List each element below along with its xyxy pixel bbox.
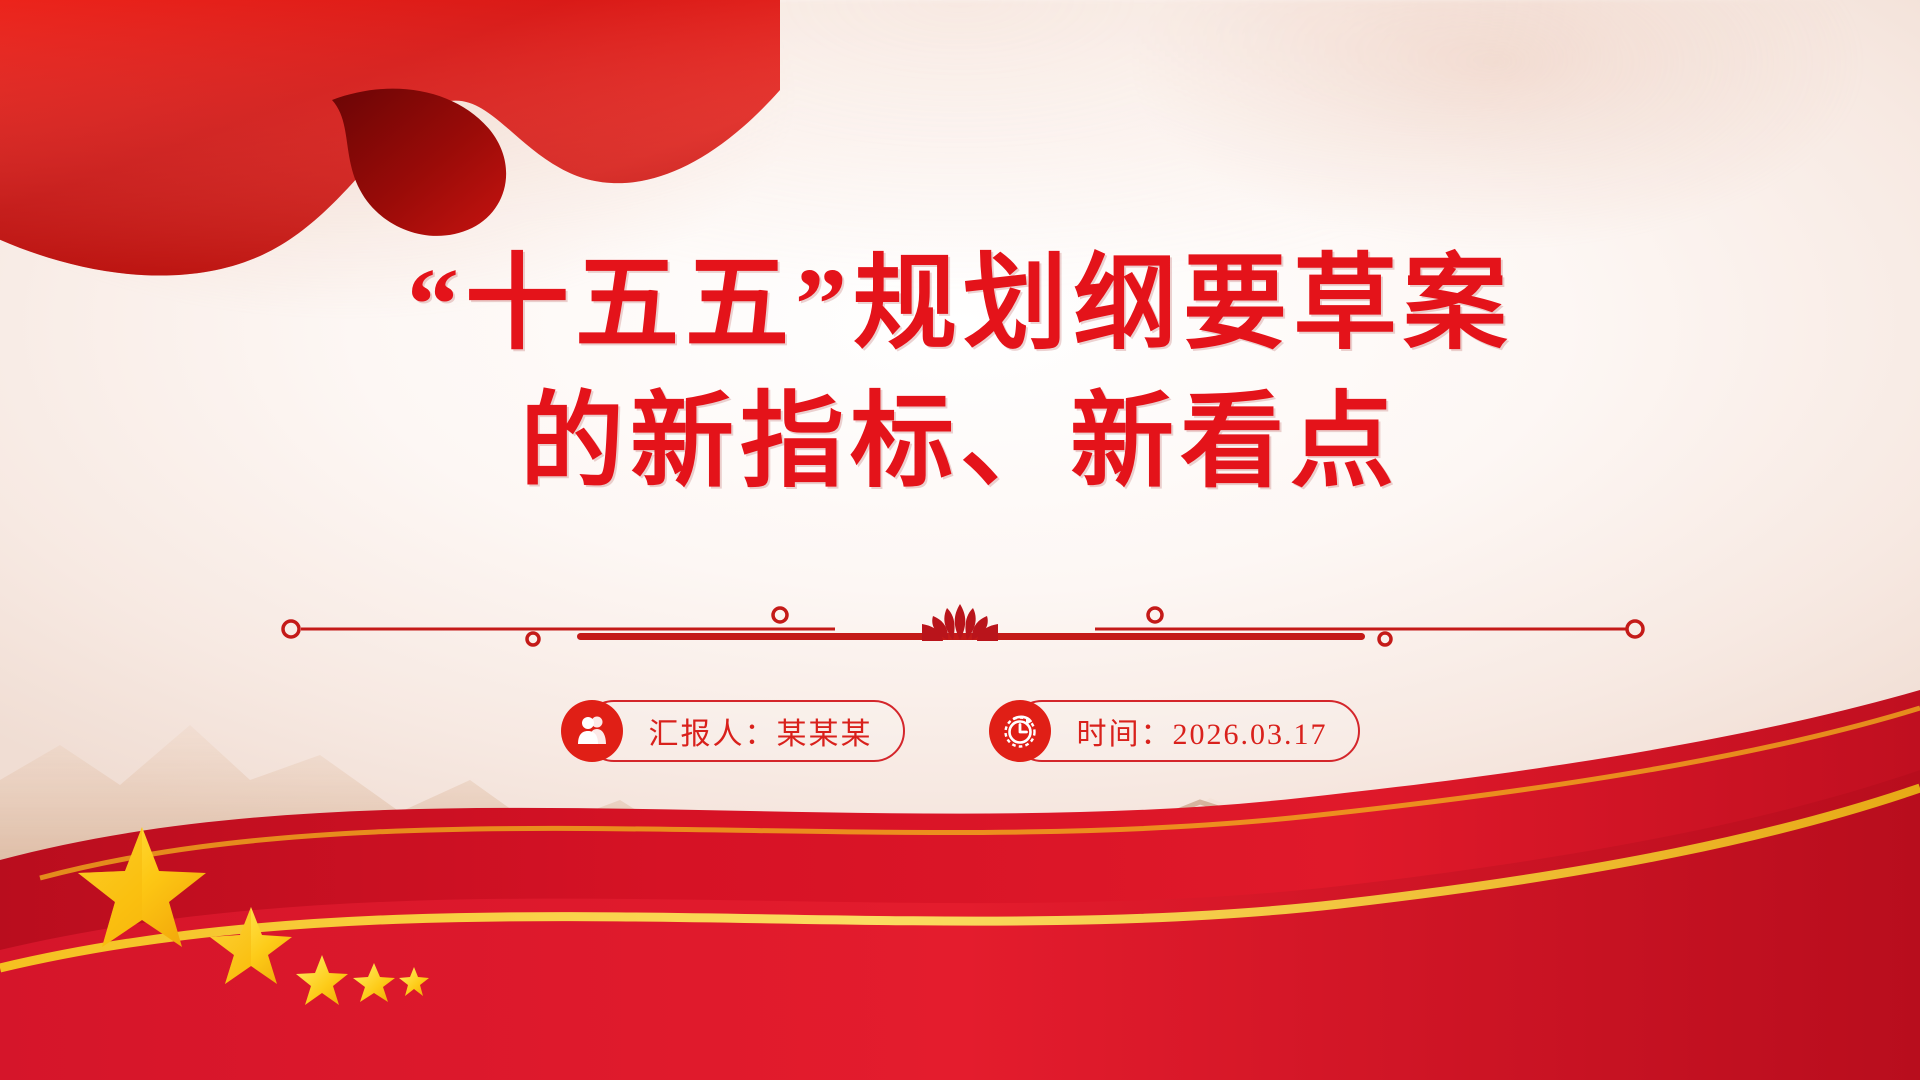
person-icon [561, 700, 623, 762]
presenter-badge: 汇报人：某某某 [561, 700, 905, 762]
presentation-title-slide: “十五五”规划纲要草案 的新指标、新看点 [0, 0, 1920, 1080]
presenter-meta-row: 汇报人：某某某 时间：2026.03.17 [0, 700, 1920, 762]
lotus-ornament [922, 604, 998, 641]
presenter-pill: 汇报人：某某某 [583, 700, 905, 762]
presenter-label: 汇报人：某某某 [649, 709, 873, 753]
date-badge: 时间：2026.03.17 [989, 700, 1360, 762]
clock-icon [989, 700, 1051, 762]
title-line-1: “十五五”规划纲要草案 [0, 236, 1920, 374]
title-line-2: 的新指标、新看点 [0, 374, 1920, 512]
decorative-divider [275, 592, 1645, 648]
date-label: 时间：2026.03.17 [1077, 709, 1328, 753]
date-pill: 时间：2026.03.17 [1011, 700, 1360, 762]
page-title: “十五五”规划纲要草案 的新指标、新看点 [0, 236, 1920, 513]
